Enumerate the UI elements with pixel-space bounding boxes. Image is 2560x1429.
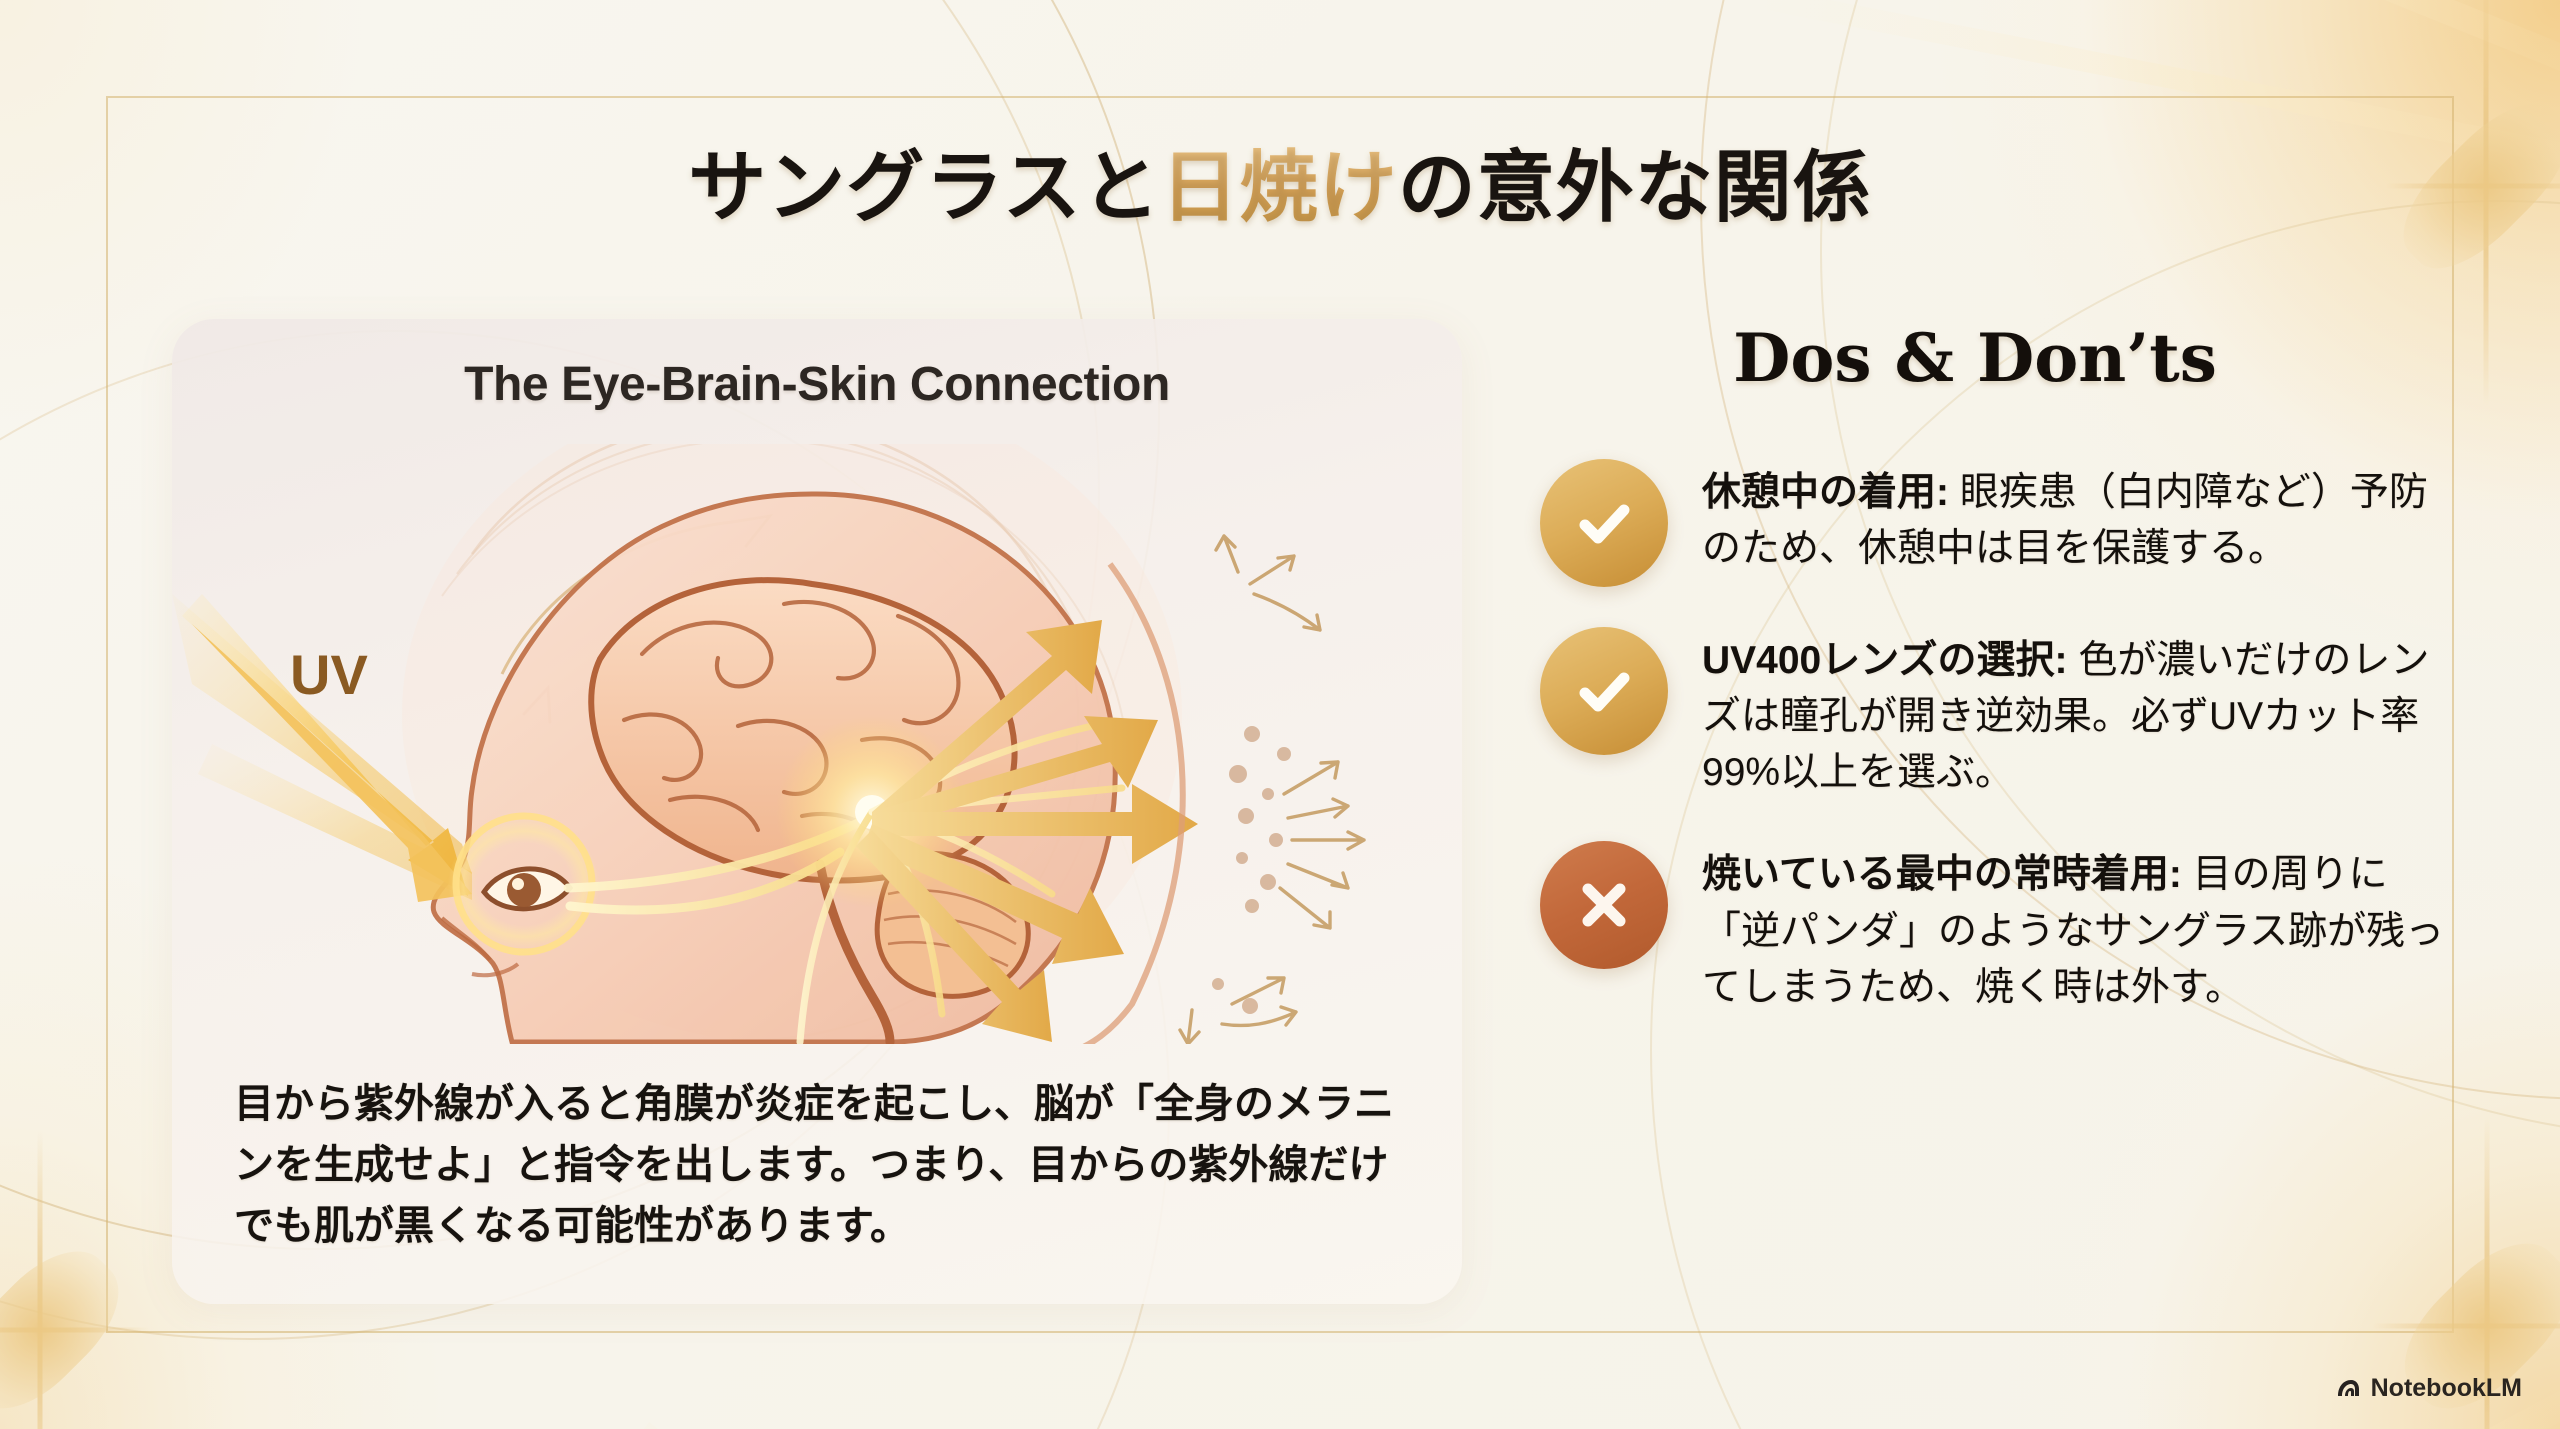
list-item-text: 焼いている最中の常時着用: 目の周りに「逆パンダ」のようなサングラス跡が残ってし… xyxy=(1702,841,2460,1015)
melanin-dots xyxy=(1212,726,1291,1014)
dos-and-donts-panel: Dos & Don’ts 休憩中の着用: 眼疾患（白内障など）予防のため、休憩中… xyxy=(1540,319,2460,1016)
slide-canvas: サングラスと日焼けの意外な関係 The Eye-Brain-Skin Conne… xyxy=(0,0,2560,1429)
list-item-text: UV400レンズの選択: 色が濃いだけのレンズは瞳孔が開き逆効果。必ずUVカット… xyxy=(1702,627,2460,801)
uv-label: UV xyxy=(290,643,368,706)
title-segment-plain-2: の意外な関係 xyxy=(1398,142,1872,233)
dos-donts-heading: Dos & Don’ts xyxy=(1490,319,2460,397)
list-item-lead: 休憩中の着用: xyxy=(1702,471,1949,514)
title-segment-plain: サングラスと xyxy=(688,142,1160,233)
list-item-lead: 焼いている最中の常時着用: xyxy=(1702,853,2182,896)
list-item: UV400レンズの選択: 色が濃いだけのレンズは瞳孔が開き逆効果。必ずUVカット… xyxy=(1540,627,2460,801)
notebooklm-watermark: NotebookLM xyxy=(2335,1374,2522,1403)
cross-icon xyxy=(1540,841,1668,969)
check-icon xyxy=(1540,627,1668,755)
notebooklm-logo-icon xyxy=(2335,1376,2361,1402)
eye-brain-skin-card: The Eye-Brain-Skin Connection xyxy=(172,319,1462,1304)
list-item: 焼いている最中の常時着用: 目の周りに「逆パンダ」のようなサングラス跡が残ってし… xyxy=(1540,841,2460,1015)
illustration-svg: UV xyxy=(172,444,1462,1044)
uv-eye-brain-illustration: UV xyxy=(172,444,1462,1044)
page-title: サングラスと日焼けの意外な関係 xyxy=(0,125,2560,237)
card-caption: 目から紫外線が入ると角膜が炎症を起こし、脳が「全身のメラニンを生成せよ」と指令を… xyxy=(234,1074,1406,1256)
card-heading: The Eye-Brain-Skin Connection xyxy=(172,357,1462,412)
watermark-label: NotebookLM xyxy=(2371,1374,2522,1403)
check-icon xyxy=(1540,459,1668,587)
list-item-text: 休憩中の着用: 眼疾患（白内障など）予防のため、休憩中は目を保護する。 xyxy=(1702,459,2460,577)
list-item: 休憩中の着用: 眼疾患（白内障など）予防のため、休憩中は目を保護する。 xyxy=(1540,459,2460,587)
title-segment-highlight: 日焼け xyxy=(1161,142,1398,233)
list-item-lead: UV400レンズの選択: xyxy=(1702,639,2067,682)
